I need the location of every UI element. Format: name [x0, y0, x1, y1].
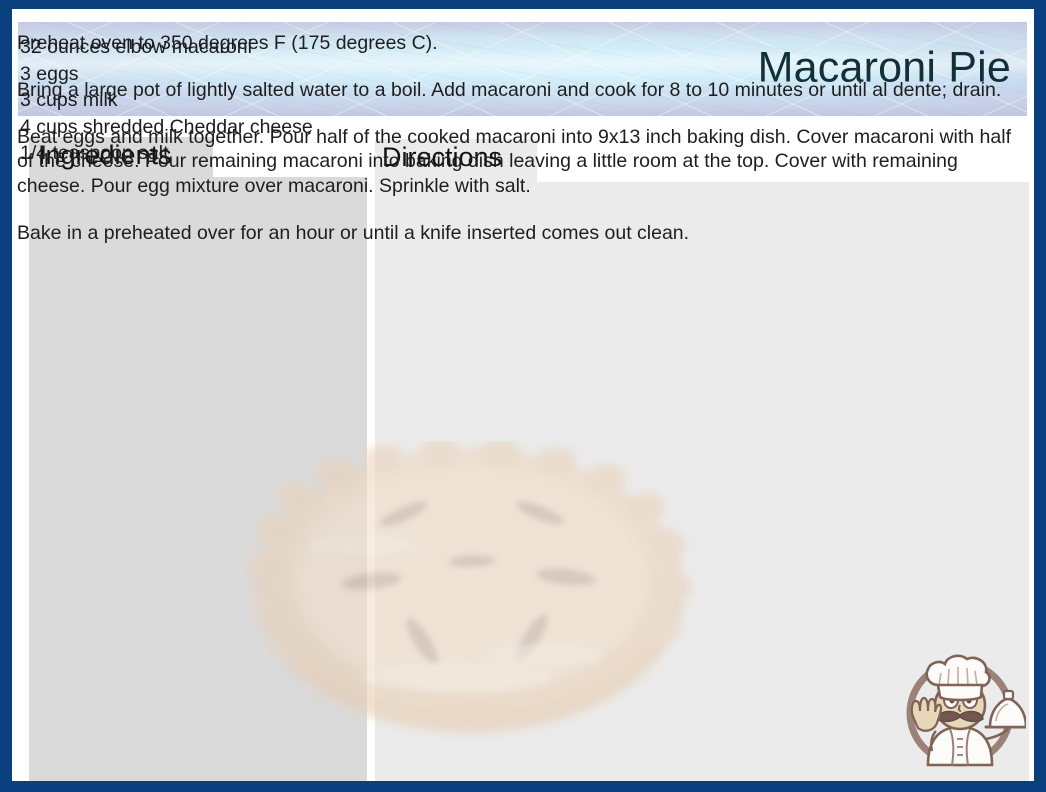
direction-step: Beat eggs and milk together. Pour half o… — [17, 125, 1026, 199]
direction-step: Preheat oven to 350 degrees F (175 degre… — [17, 31, 1026, 56]
direction-step: Bring a large pot of lightly salted wate… — [17, 78, 1026, 103]
ingredients-panel — [29, 177, 367, 781]
recipe-slide: Macaroni Pie Ingredients 32 ounces elbow… — [0, 0, 1046, 792]
directions-body: Preheat oven to 350 degrees F (175 degre… — [17, 31, 1026, 246]
direction-step: Bake in a preheated over for an hour or … — [17, 221, 1026, 246]
slide-page: Macaroni Pie Ingredients 32 ounces elbow… — [12, 9, 1034, 781]
chef-mascot-logo — [894, 643, 1026, 775]
